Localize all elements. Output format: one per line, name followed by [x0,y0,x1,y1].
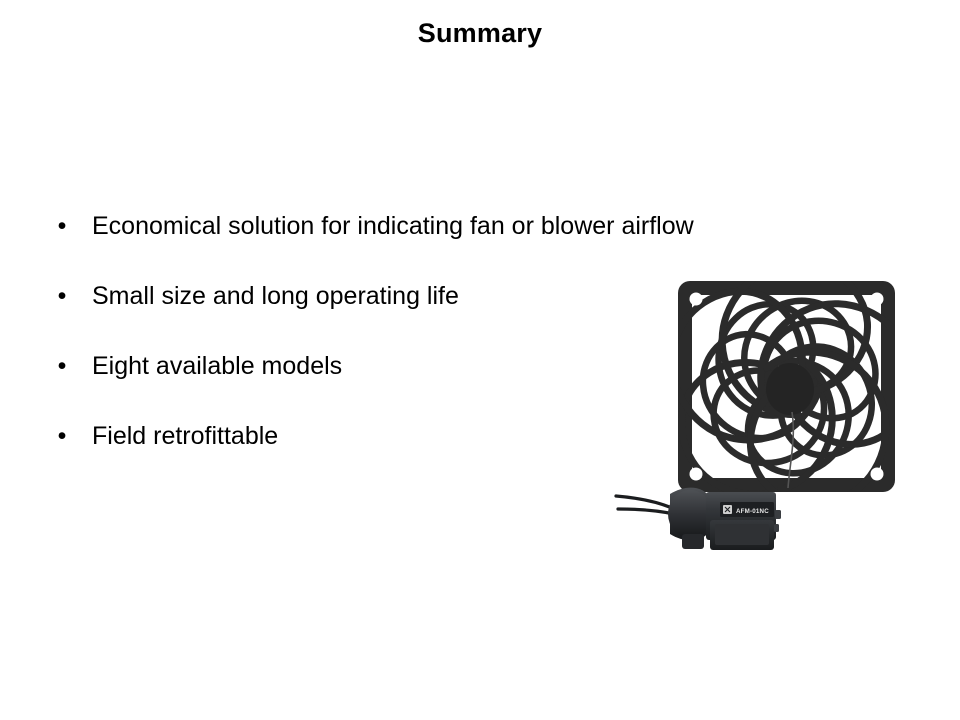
sensor-wire-upper [616,496,672,508]
list-item: • Economical solution for indicating fan… [48,210,648,280]
sensor-nub [682,534,704,549]
sensor-cap [668,490,712,538]
page-title: Summary [0,16,960,50]
airflow-sensor-module: AFM-01NC [616,488,781,550]
mounting-hole-bottom-right [871,468,884,481]
spiral-fan-guard [654,262,920,523]
sensor-side-tab-lower [774,524,779,532]
bullet-text: Field retrofittable [92,420,278,452]
bullet-text: Small size and long operating life [92,280,459,312]
sensor-wire-lower [618,509,674,514]
slide-canvas: Summary • Economical solution for indica… [0,0,960,720]
list-item: • Small size and long operating life [48,280,648,350]
sensor-side-tab-upper [775,510,781,519]
mounting-hole-top-left [690,293,703,306]
list-item: • Eight available models [48,350,648,420]
bullet-list: • Economical solution for indicating fan… [48,210,648,490]
bullet-text: Economical solution for indicating fan o… [92,210,694,242]
bullet-marker-icon: • [54,210,70,242]
sensor-connector-face [715,524,769,545]
sensor-model-label: AFM-01NC [736,508,769,515]
bullet-text: Eight available models [92,350,342,382]
bullet-marker-icon: • [54,280,70,312]
product-photo: AFM-01NC [600,262,920,582]
fan-guard-hub [766,363,814,415]
bullet-marker-icon: • [54,350,70,382]
mounting-hole-top-right [871,293,884,306]
mounting-hole-bottom-left [690,468,703,481]
bullet-marker-icon: • [54,420,70,452]
list-item: • Field retrofittable [48,420,648,490]
